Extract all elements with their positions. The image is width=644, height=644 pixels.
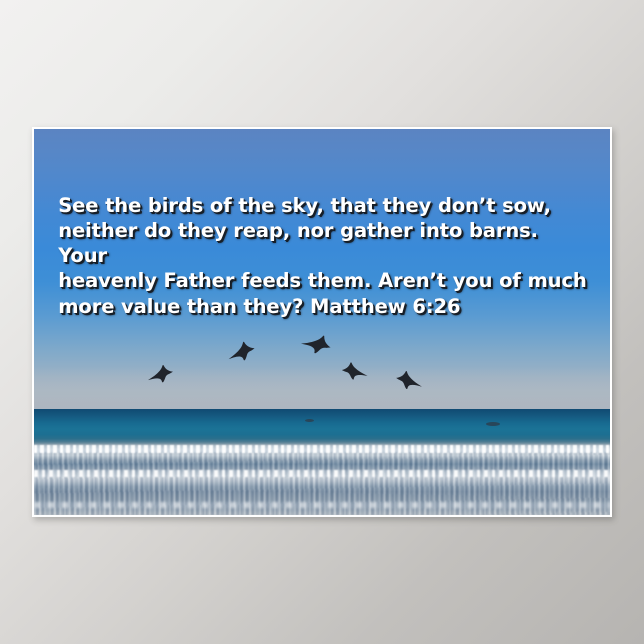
ocean-background bbox=[34, 409, 610, 515]
water-ripples bbox=[34, 452, 610, 515]
speck-2 bbox=[486, 422, 500, 426]
poster-canvas: See the birds of the sky, that they don’… bbox=[0, 0, 644, 644]
beach-photo: See the birds of the sky, that they don’… bbox=[34, 129, 610, 515]
horizon-haze bbox=[34, 366, 610, 411]
bird-3-icon bbox=[297, 329, 334, 357]
verse-text: See the birds of the sky, that they don’… bbox=[58, 193, 588, 319]
photo-frame: See the birds of the sky, that they don’… bbox=[32, 127, 612, 517]
